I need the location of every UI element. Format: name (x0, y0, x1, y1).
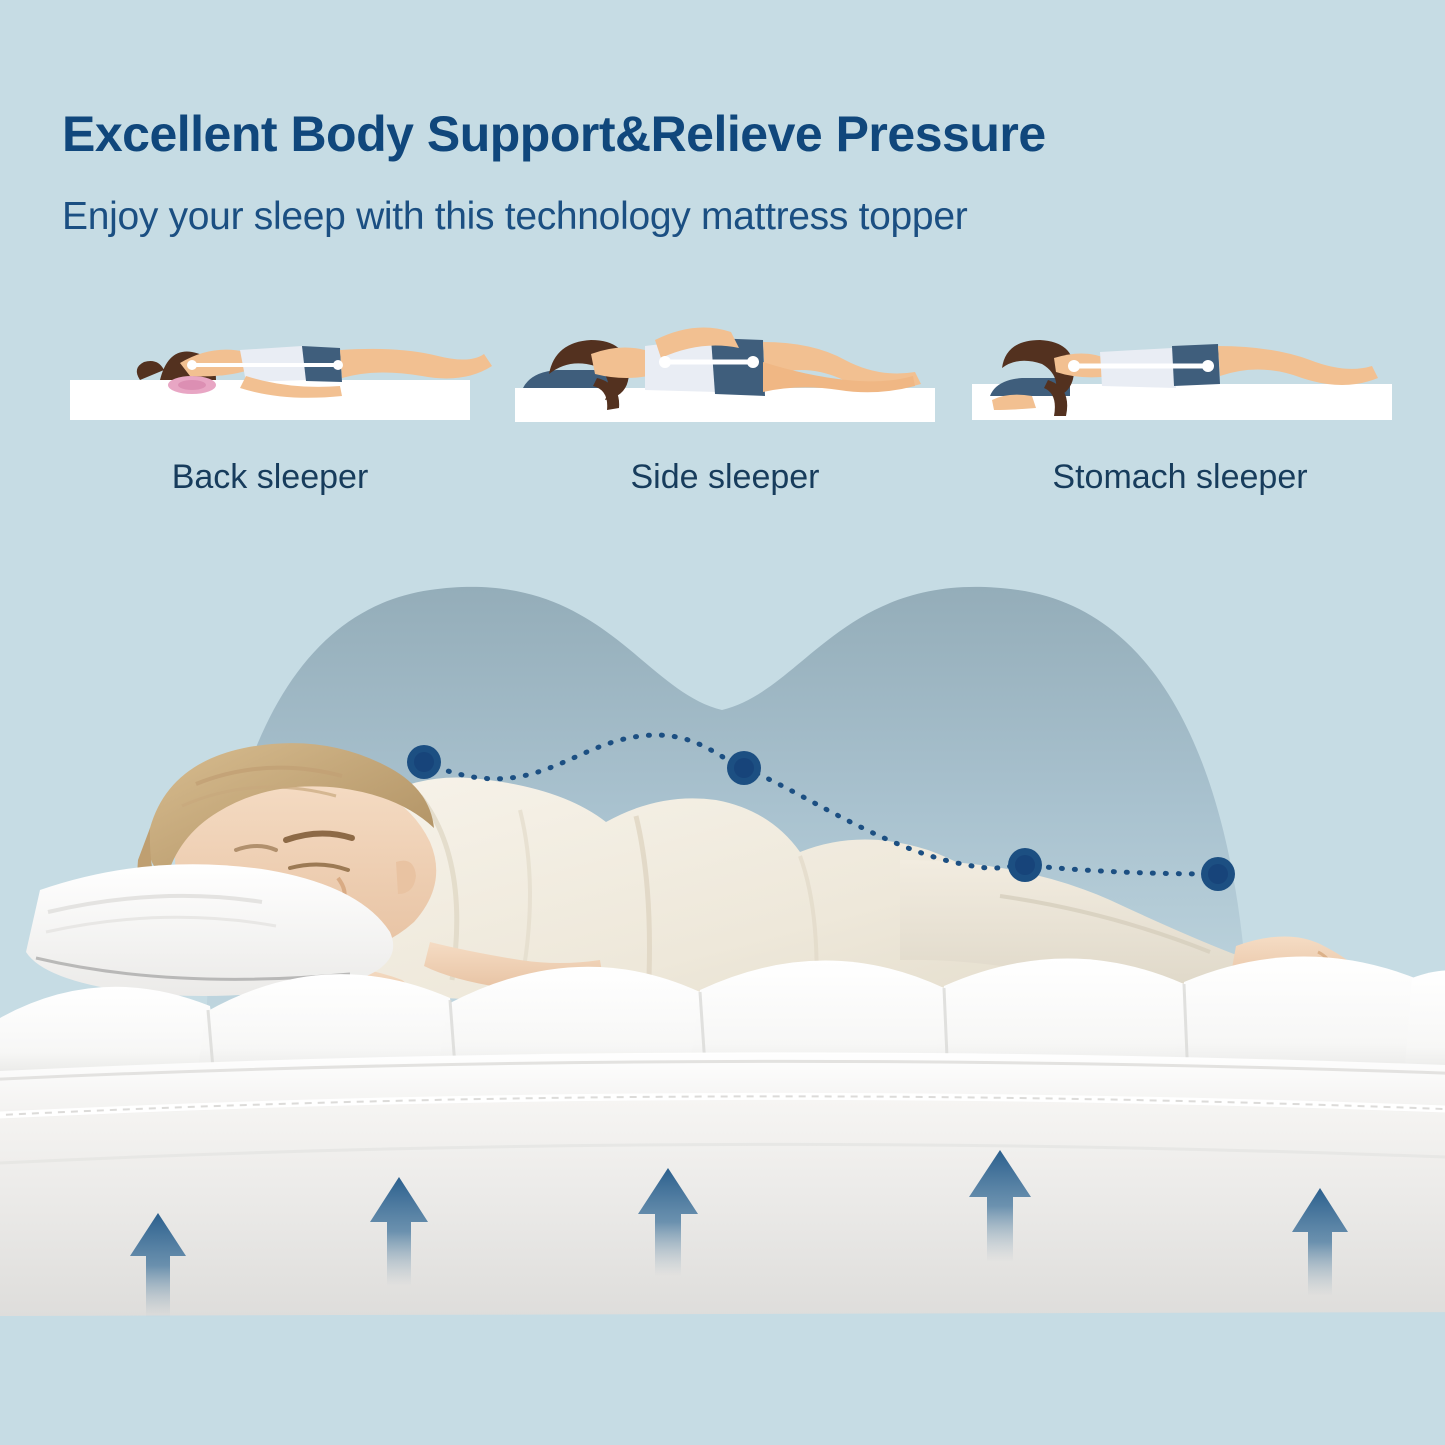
support-arrow-2 (370, 1177, 428, 1286)
sleeper-card-back-label: Back sleeper (40, 458, 500, 497)
page-title: Excellent Body Support&Relieve Pressure (62, 108, 1392, 161)
sleeper-card-stomach-label: Stomach sleeper (950, 458, 1410, 497)
sleeper-card-side: Side sleeper (495, 318, 955, 518)
product-infographic: Excellent Body Support&Relieve Pressure … (0, 0, 1445, 1445)
back-sleeper-illustration (40, 318, 500, 428)
support-arrow-3 (638, 1168, 698, 1276)
sleeper-card-side-label: Side sleeper (495, 458, 955, 497)
support-arrow-1 (130, 1213, 186, 1318)
support-arrow-4 (969, 1150, 1031, 1262)
support-arrow-5 (1292, 1188, 1348, 1296)
stomach-sleeper-illustration (950, 318, 1410, 428)
sleeper-card-back: Back sleeper (40, 318, 500, 518)
support-arrows (0, 1090, 1445, 1330)
sleeper-cards: Back sleeper Side sleeper (0, 318, 1445, 518)
sleeper-card-stomach: Stomach sleeper (950, 318, 1410, 518)
spine-alignment-curve (0, 700, 1445, 930)
page-subtitle: Enjoy your sleep with this technology ma… (62, 196, 1392, 239)
side-sleeper-illustration (495, 318, 955, 428)
